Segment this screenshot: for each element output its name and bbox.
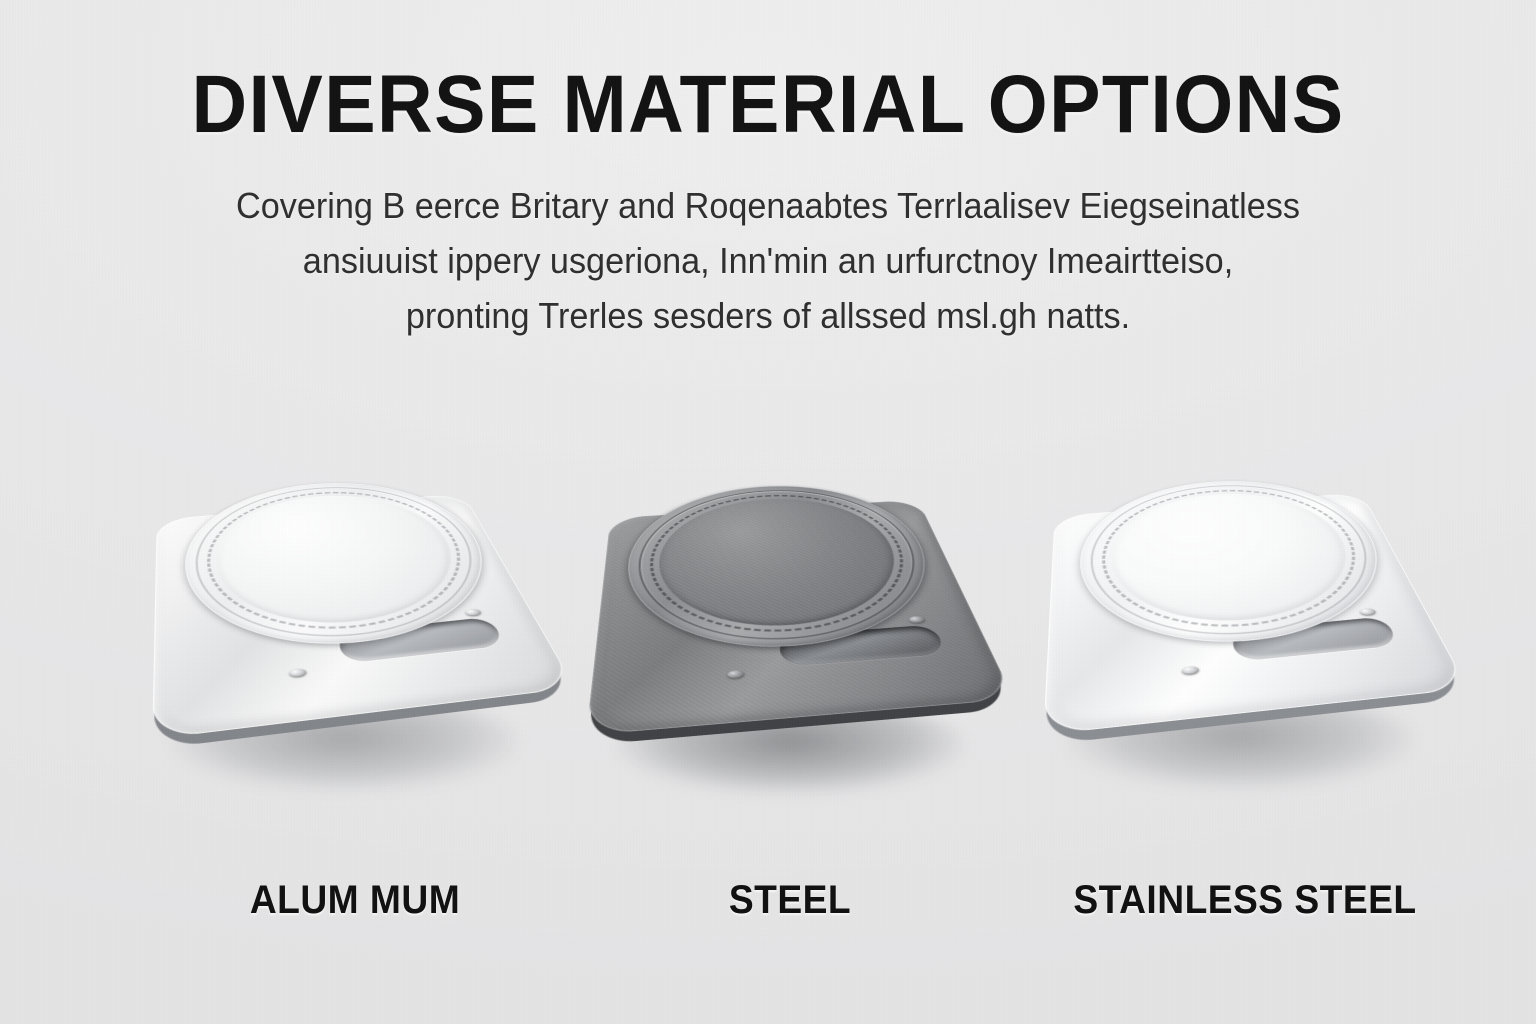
page-background: DIVERSE MATERIAL OPTIONS Covering B eerc… [0, 0, 1536, 1024]
caption-steel: STEEL [548, 878, 1032, 923]
rivet-icon [908, 616, 926, 624]
rivet-icon [1309, 516, 1324, 522]
rivet-icon [289, 668, 307, 678]
rivet-icon [464, 608, 482, 616]
handle-slot-cutout [778, 624, 947, 666]
plate-assembly [1035, 393, 1465, 823]
rivet-icon [643, 564, 658, 571]
product-aluminium[interactable] [140, 395, 570, 825]
handle-slot-cutout [336, 617, 505, 664]
caption-stainless-steel: STAINLESS STEEL [1003, 878, 1487, 923]
handle-slot-cutout [1230, 616, 1399, 661]
plate-assembly [585, 398, 1015, 828]
base-plate [1043, 492, 1469, 735]
rivet-icon [412, 518, 427, 524]
rivet-icon [864, 523, 879, 529]
base-plate [152, 493, 576, 739]
rivet-icon [1181, 666, 1199, 676]
rivet-icon [1359, 608, 1377, 616]
product-gallery [0, 0, 1536, 1024]
rivet-icon [727, 670, 745, 679]
rivet-icon [195, 565, 210, 572]
base-plate [586, 500, 1014, 736]
product-steel[interactable] [585, 398, 1015, 828]
caption-aluminium: ALUM MUM [113, 878, 597, 923]
plate-assembly [140, 395, 570, 825]
rivet-icon [1091, 561, 1106, 568]
product-stainless-steel[interactable] [1035, 393, 1465, 823]
plate-top-face [586, 500, 1014, 736]
